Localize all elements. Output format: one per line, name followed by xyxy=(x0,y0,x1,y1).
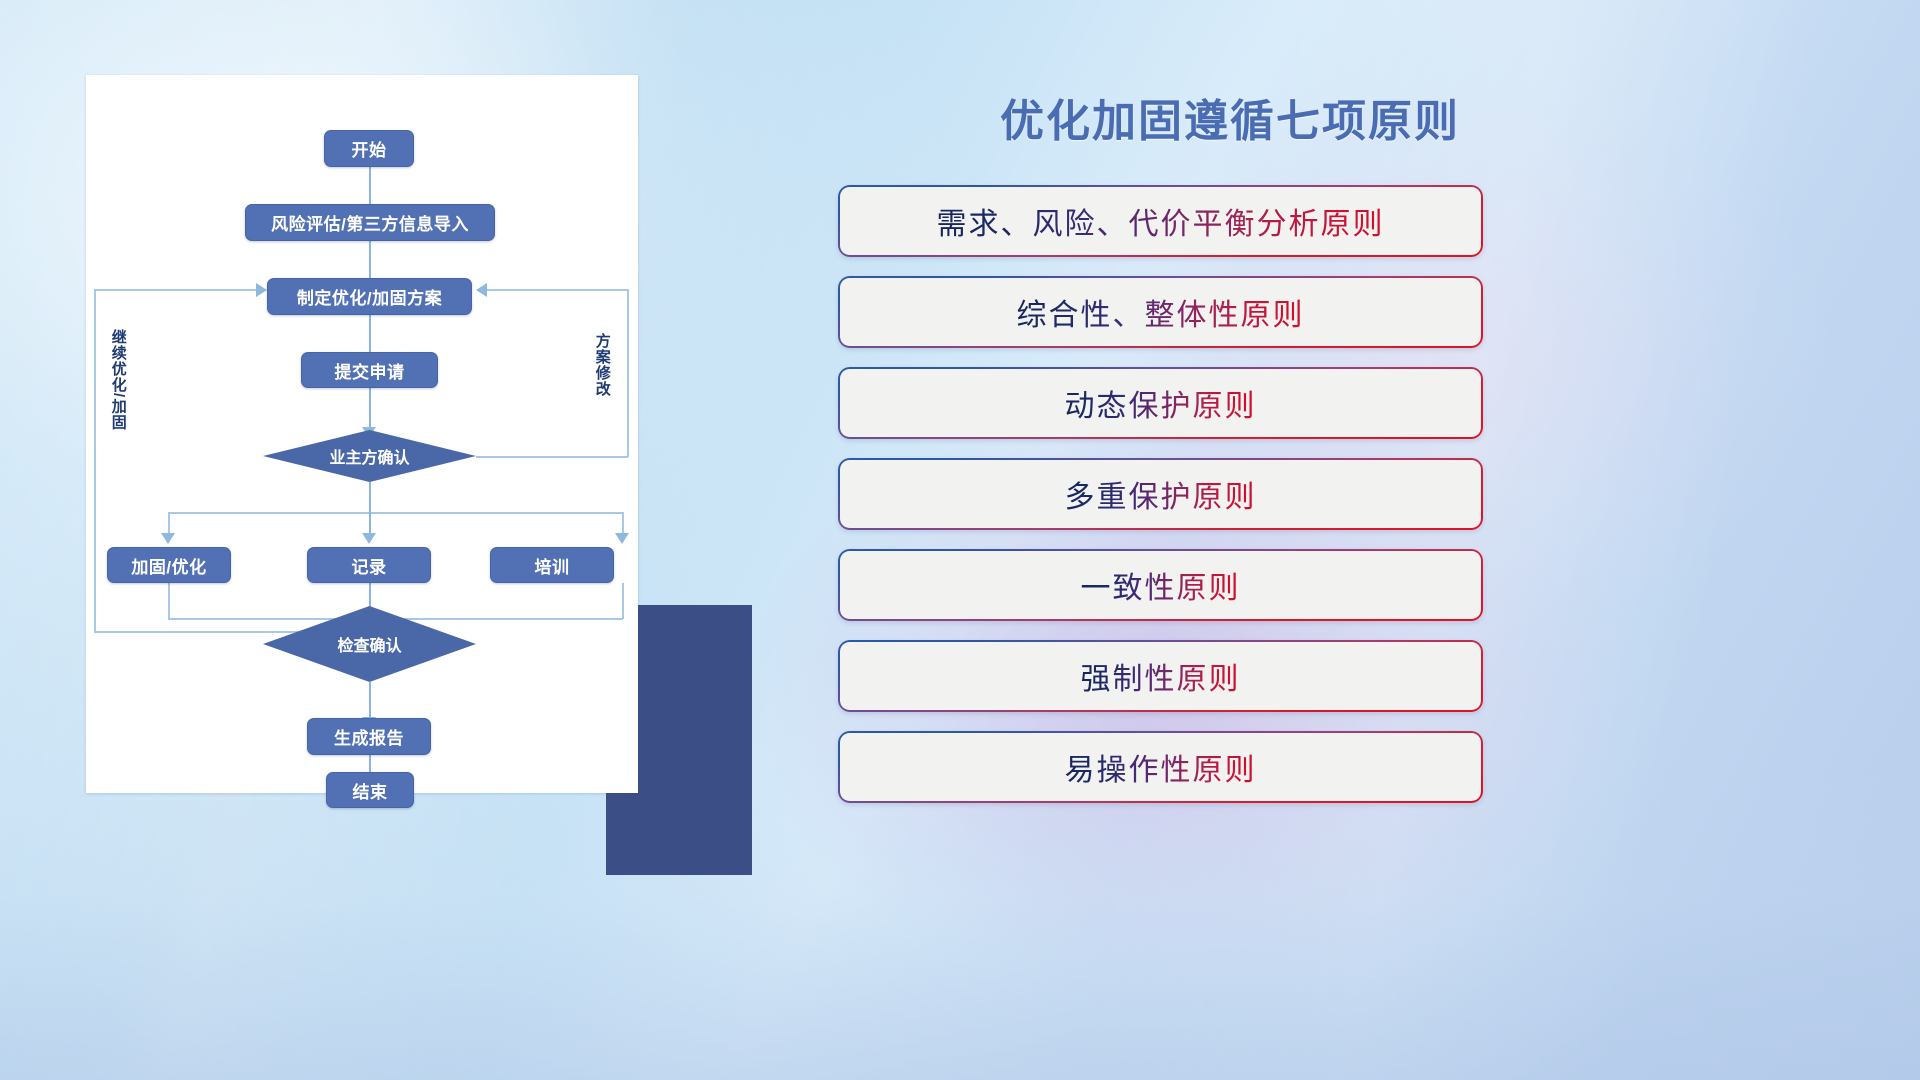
principle-item-1[interactable]: 需求、风险、代价平衡分析原则 xyxy=(838,185,1483,257)
principle-item-1-inner: 需求、风险、代价平衡分析原则 xyxy=(840,187,1480,254)
principle-item-3-label: 动态保护原则 xyxy=(1065,381,1257,425)
principle-item-3[interactable]: 动态保护原则 xyxy=(838,367,1483,439)
principle-item-7-inner: 易操作性原则 xyxy=(840,733,1480,800)
flow-edge-label-right-loop: 方案修改 xyxy=(594,315,610,415)
flow-node-owner-confirm-label: 业主方确认 xyxy=(329,444,409,468)
flow-node-training[interactable]: 培训 xyxy=(490,547,614,583)
principle-item-1-label: 需求、风险、代价平衡分析原则 xyxy=(937,199,1385,243)
principle-item-2[interactable]: 综合性、整体性原则 xyxy=(838,276,1483,348)
connector-merge-right xyxy=(622,583,624,619)
principles-list: 需求、风险、代价平衡分析原则 综合性、整体性原则 动态保护原则 多重保护原则 xyxy=(838,185,1658,822)
flow-node-training-label: 培训 xyxy=(535,553,570,578)
flow-node-plan-label: 制定优化/加固方案 xyxy=(297,284,442,309)
flow-node-risk-assessment-label: 风险评估/第三方信息导入 xyxy=(271,210,469,235)
principle-item-4-inner: 多重保护原则 xyxy=(840,460,1480,527)
principle-item-3-inner: 动态保护原则 xyxy=(840,369,1480,436)
principle-slot-1: 需求、风险、代价平衡分析原则 xyxy=(838,185,1658,276)
connector-start-to-risk xyxy=(369,167,371,209)
connector-right-loop-vertical xyxy=(627,289,629,457)
arrowhead-to-record xyxy=(362,533,376,544)
principle-slot-7: 易操作性原则 xyxy=(838,731,1658,822)
connector-right-loop-top xyxy=(486,289,628,291)
flow-node-record[interactable]: 记录 xyxy=(307,547,431,583)
flowchart-panel: 开始 风险评估/第三方信息导入 制定优化/加固方案 提交申请 业主方确认 加固/… xyxy=(86,75,766,815)
principle-item-5-label: 一致性原则 xyxy=(1081,563,1241,607)
flow-edge-label-left-loop: 继续优化/加固 xyxy=(110,315,126,445)
connector-merge-left xyxy=(168,583,170,619)
connector-submit-to-confirm xyxy=(369,388,371,432)
connector-left-loop-top xyxy=(94,289,264,291)
principle-item-4-label: 多重保护原则 xyxy=(1065,472,1257,516)
principle-slot-3: 动态保护原则 xyxy=(838,367,1658,458)
principle-item-7[interactable]: 易操作性原则 xyxy=(838,731,1483,803)
principle-slot-5: 一致性原则 xyxy=(838,549,1658,640)
connector-right-loop-bottom xyxy=(476,456,628,458)
principles-title: 优化加固遵循七项原则 xyxy=(820,85,1640,149)
flow-node-plan[interactable]: 制定优化/加固方案 xyxy=(267,278,472,315)
flow-node-submit-label: 提交申请 xyxy=(335,358,405,383)
arrowhead-left-loop-to-plan xyxy=(256,283,267,297)
flow-node-generate-report-label: 生成报告 xyxy=(334,724,404,749)
flow-node-risk-assessment[interactable]: 风险评估/第三方信息导入 xyxy=(245,204,495,241)
connector-risk-to-plan xyxy=(369,241,371,283)
principle-slot-4: 多重保护原则 xyxy=(838,458,1658,549)
connector-confirm-down xyxy=(369,482,371,512)
principle-item-2-label: 综合性、整体性原则 xyxy=(1017,290,1305,334)
principle-item-5-inner: 一致性原则 xyxy=(840,551,1480,618)
principle-item-6-label: 强制性原则 xyxy=(1081,654,1241,698)
flow-node-start-label: 开始 xyxy=(352,136,387,161)
flow-node-end-label: 结束 xyxy=(353,778,388,803)
flow-node-record-label: 记录 xyxy=(352,553,387,578)
principle-item-2-inner: 综合性、整体性原则 xyxy=(840,278,1480,345)
connector-split-bar xyxy=(168,512,623,514)
principle-item-4[interactable]: 多重保护原则 xyxy=(838,458,1483,530)
connector-check-to-report xyxy=(369,682,371,721)
flowchart-card: 开始 风险评估/第三方信息导入 制定优化/加固方案 提交申请 业主方确认 加固/… xyxy=(86,75,638,793)
arrowhead-to-training xyxy=(615,533,629,544)
principle-slot-2: 综合性、整体性原则 xyxy=(838,276,1658,367)
flow-node-check-confirm[interactable]: 检查确认 xyxy=(263,606,476,682)
arrowhead-to-reinforce xyxy=(161,533,175,544)
principles-panel: 优化加固遵循七项原则 需求、风险、代价平衡分析原则 综合性、整体性原则 动态保护… xyxy=(820,60,1870,1020)
flow-node-reinforce-label: 加固/优化 xyxy=(131,553,206,578)
principle-item-5[interactable]: 一致性原则 xyxy=(838,549,1483,621)
flow-node-owner-confirm[interactable]: 业主方确认 xyxy=(263,430,476,482)
principle-item-6[interactable]: 强制性原则 xyxy=(838,640,1483,712)
flow-node-start[interactable]: 开始 xyxy=(324,130,414,167)
flow-node-end[interactable]: 结束 xyxy=(326,772,414,808)
flow-node-check-confirm-label: 检查确认 xyxy=(337,632,401,656)
flow-node-reinforce[interactable]: 加固/优化 xyxy=(107,547,231,583)
principle-slot-6: 强制性原则 xyxy=(838,640,1658,731)
principle-item-7-label: 易操作性原则 xyxy=(1065,745,1257,789)
principle-item-6-inner: 强制性原则 xyxy=(840,642,1480,709)
flow-node-submit[interactable]: 提交申请 xyxy=(301,352,438,388)
flow-node-generate-report[interactable]: 生成报告 xyxy=(307,718,431,755)
connector-plan-to-submit xyxy=(369,315,371,356)
arrowhead-right-loop-to-plan xyxy=(476,283,487,297)
connector-left-loop-vertical xyxy=(94,289,96,632)
